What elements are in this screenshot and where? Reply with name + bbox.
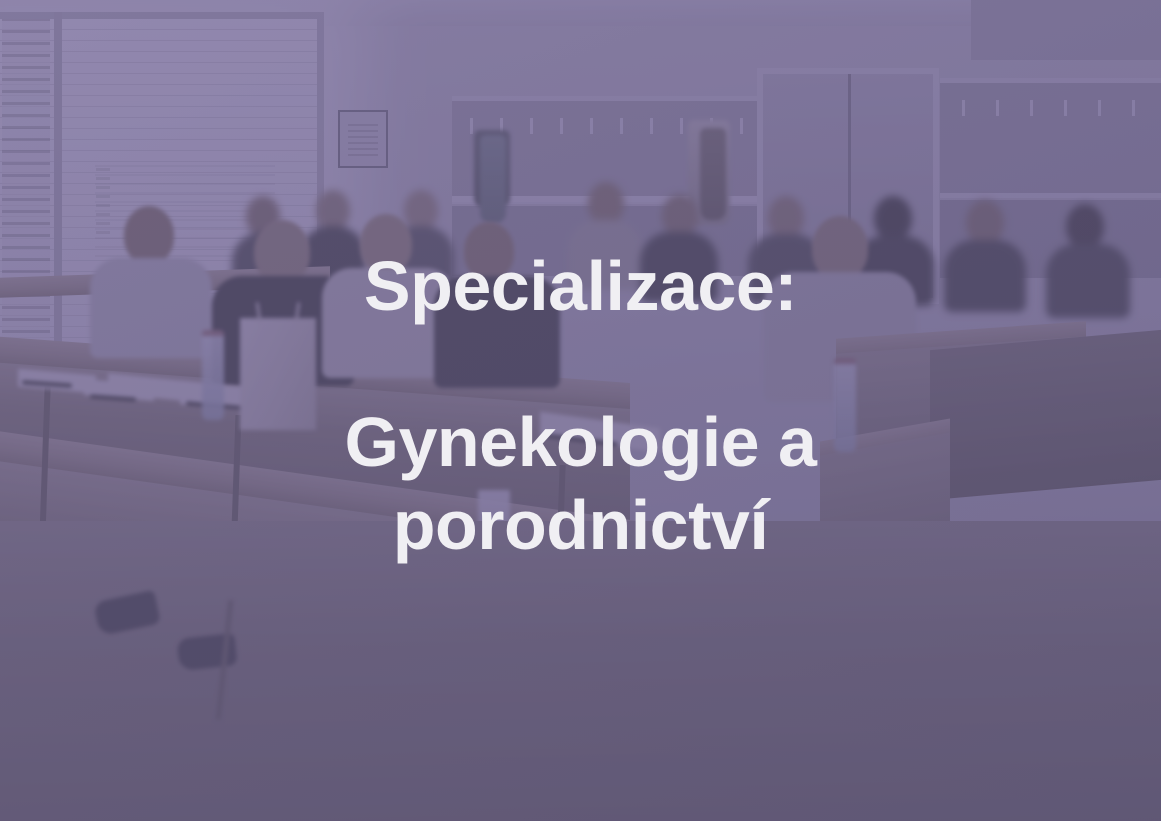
hero-title-line-1: Specializace: (364, 249, 797, 323)
hero-title-line-2: Gynekologie a porodnictví (271, 401, 891, 566)
hero-caption: Specializace: Gynekologie a porodnictví (0, 0, 1161, 821)
hero-banner: Specializace: Gynekologie a porodnictví (0, 0, 1161, 821)
